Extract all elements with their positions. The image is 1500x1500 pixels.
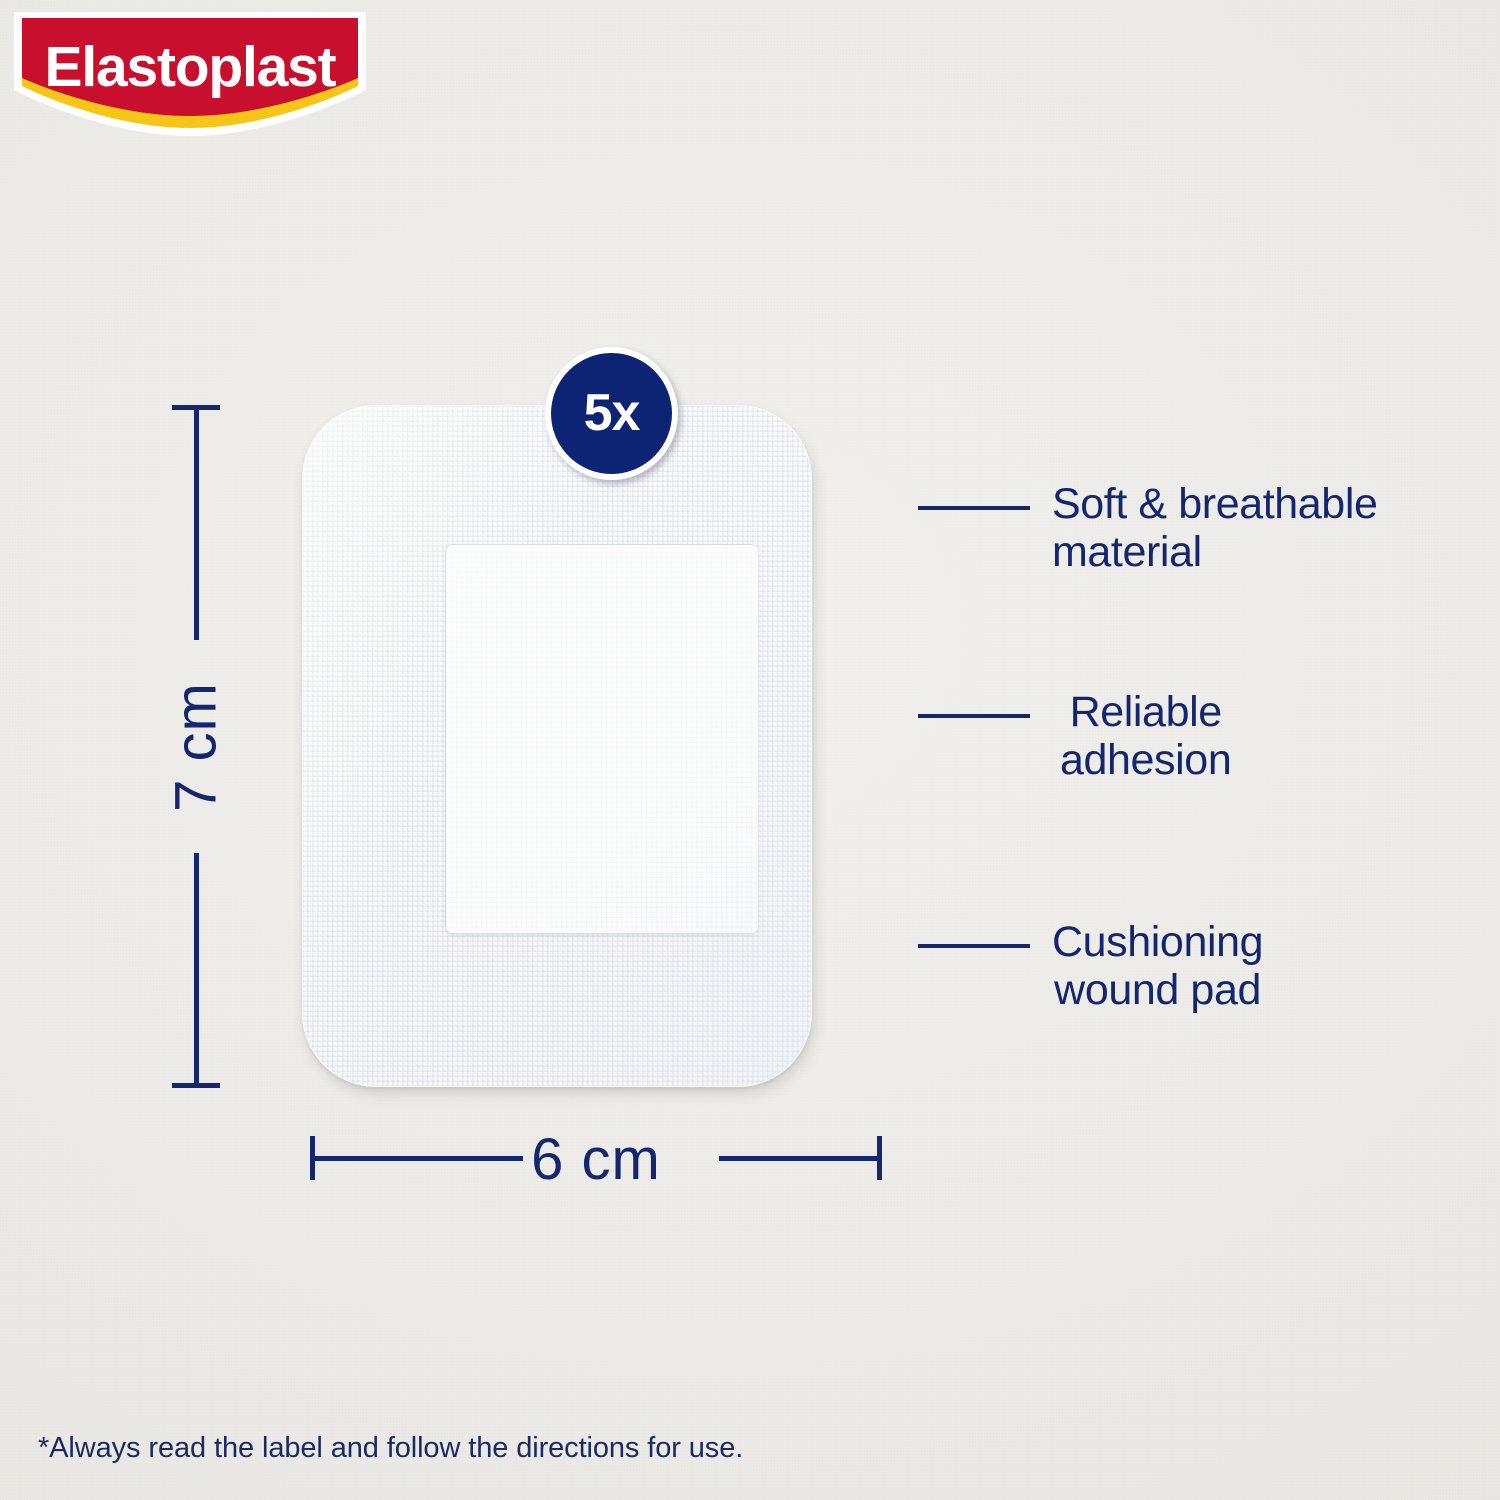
callout-leader-line-icon <box>918 944 1030 948</box>
width-dimension-label: 6 cm <box>531 1126 661 1193</box>
dimension-line-upper-icon <box>194 408 199 640</box>
pack-count-label: 5x <box>584 387 640 439</box>
pack-count-badge: 5x <box>545 347 678 480</box>
callout-label: Cushioning wound pad <box>1052 918 1263 1014</box>
height-dimension-indicator: 7 cm <box>150 405 242 1088</box>
callout-soft-breathable-material: Soft & breathable material <box>918 480 1377 576</box>
dimension-cap-bottom-icon <box>172 1083 220 1088</box>
callout-leader-line-icon <box>918 506 1030 510</box>
logo-shape-svg: Elastoplast <box>14 12 366 136</box>
dimension-line-left-icon <box>313 1156 523 1161</box>
callout-cushioning-wound-pad: Cushioning wound pad <box>918 918 1263 1014</box>
height-dimension-label: 7 cm <box>163 682 230 812</box>
width-dimension-indicator: 6 cm <box>310 1128 882 1194</box>
plaster-product <box>302 405 812 1087</box>
plaster-fabric-backing <box>302 405 812 1087</box>
dimension-cap-right-icon <box>877 1136 882 1180</box>
logo-wordmark: Elastoplast <box>45 35 337 99</box>
callout-reliable-adhesion: Reliable adhesion <box>918 688 1231 784</box>
elastoplast-logo: Elastoplast <box>14 12 366 136</box>
callout-label: Reliable adhesion <box>1060 688 1231 784</box>
callout-leader-line-icon <box>918 714 1030 718</box>
dimension-line-right-icon <box>719 1156 879 1161</box>
cushioning-wound-pad-area <box>446 545 758 933</box>
callout-label: Soft & breathable material <box>1052 480 1377 576</box>
footnote-disclaimer: *Always read the label and follow the di… <box>38 1432 743 1465</box>
dimension-line-lower-icon <box>194 853 199 1085</box>
product-image-canvas: Elastoplast 5x Soft & breathable materia… <box>0 0 1500 1500</box>
